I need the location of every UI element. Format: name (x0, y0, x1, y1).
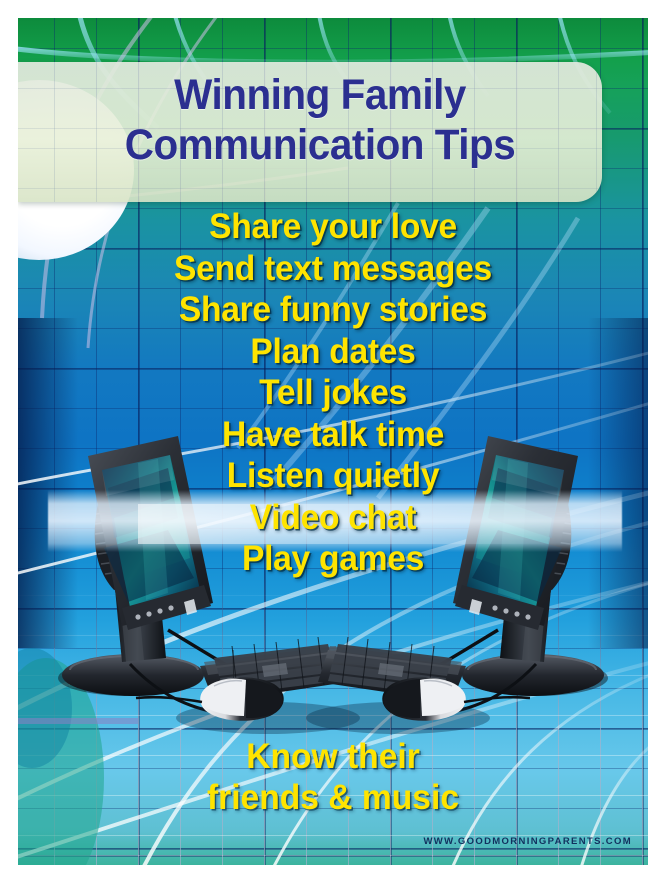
poster-artwork: Winning Family Communication Tips Share … (18, 18, 648, 865)
tagline-line-2: friends & music (31, 777, 636, 818)
tips-list: Share your love Send text messages Share… (18, 206, 648, 580)
tagline-line-1: Know their (31, 736, 636, 777)
tip-item: Video chat (31, 497, 636, 539)
tip-item: Tell jokes (31, 372, 636, 414)
tip-item: Send text messages (31, 248, 636, 290)
page-title: Winning Family Communication Tips (18, 70, 622, 170)
tip-item: Have talk time (31, 414, 636, 456)
tip-item: Share your love (31, 206, 636, 248)
tip-item: Share funny stories (31, 289, 636, 331)
tip-item: Listen quietly (31, 455, 636, 497)
website-url[interactable]: WWW.GOODMORNINGPARENTS.COM (423, 836, 632, 847)
title-line-1: Winning Family (36, 70, 604, 120)
title-line-2: Communication Tips (36, 120, 604, 170)
tagline: Know their friends & music (18, 736, 648, 818)
poster-white-frame: Winning Family Communication Tips Share … (0, 0, 666, 883)
tip-item: Plan dates (31, 331, 636, 373)
tip-item: Play games (31, 538, 636, 580)
